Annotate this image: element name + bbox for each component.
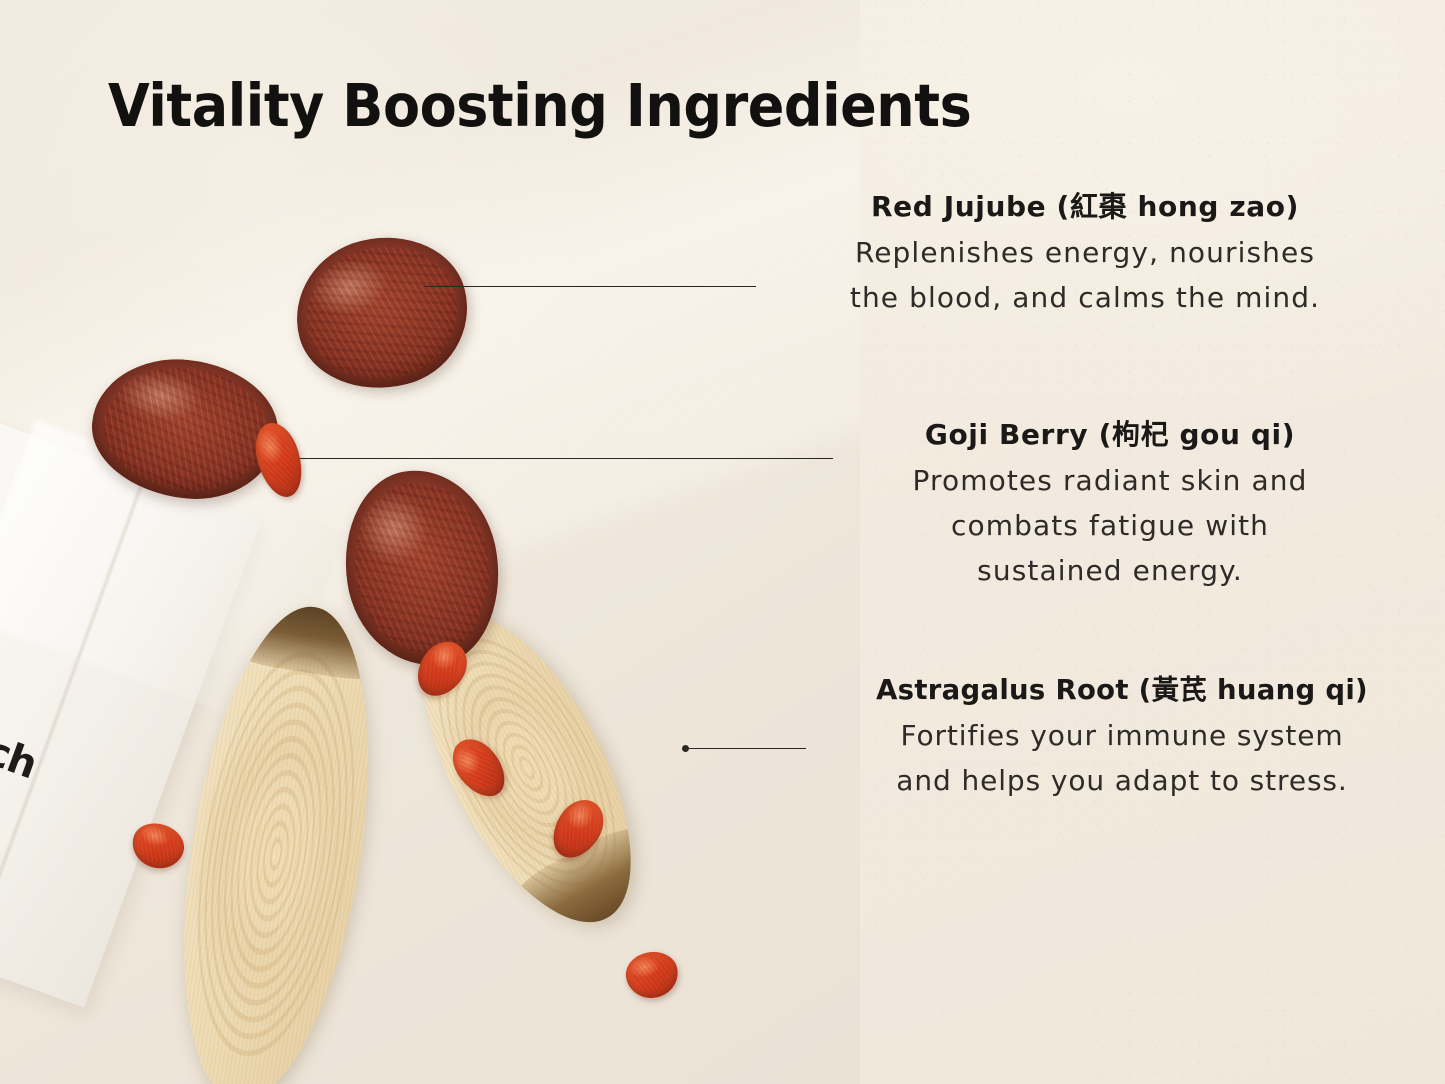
- callout-body-line: sustained energy.: [820, 548, 1400, 593]
- callout-body-line: combats fatigue with: [820, 503, 1400, 548]
- callout-body-line: Replenishes energy, nourishes: [770, 230, 1400, 275]
- callout-red-jujube: Red Jujube (紅棗 hong zao) Replenishes ene…: [770, 190, 1400, 320]
- callout-heading-red-jujube: Red Jujube (紅棗 hong zao): [770, 190, 1400, 224]
- callout-heading-goji-berry: Goji Berry (枸杞 gou qi): [820, 418, 1400, 452]
- callout-heading-astragalus-root: Astragalus Root (黃芪 huang qi): [802, 674, 1442, 707]
- ingredients-infographic: ch Vitality Boosting Ingredients Red: [0, 0, 1445, 1084]
- leader-line-jujube: [424, 286, 756, 287]
- page-title: Vitality Boosting Ingredients: [108, 75, 971, 137]
- callout-body-red-jujube: Replenishes energy, nourishes the blood,…: [770, 230, 1400, 321]
- leader-line-goji: [300, 458, 833, 459]
- callout-body-line: and helps you adapt to stress.: [802, 758, 1442, 803]
- callout-body-line: Promotes radiant skin and: [820, 458, 1400, 503]
- ingredients-photo: ch: [0, 0, 860, 1084]
- leader-line-astragalus: [688, 748, 806, 749]
- callout-goji-berry: Goji Berry (枸杞 gou qi) Promotes radiant …: [820, 418, 1400, 594]
- callout-body-line: the blood, and calms the mind.: [770, 275, 1400, 320]
- callout-body-line: Fortifies your immune system: [802, 713, 1442, 758]
- callout-body-astragalus-root: Fortifies your immune system and helps y…: [802, 713, 1442, 804]
- callout-astragalus-root: Astragalus Root (黃芪 huang qi) Fortifies …: [802, 674, 1442, 804]
- callout-body-goji-berry: Promotes radiant skin and combats fatigu…: [820, 458, 1400, 594]
